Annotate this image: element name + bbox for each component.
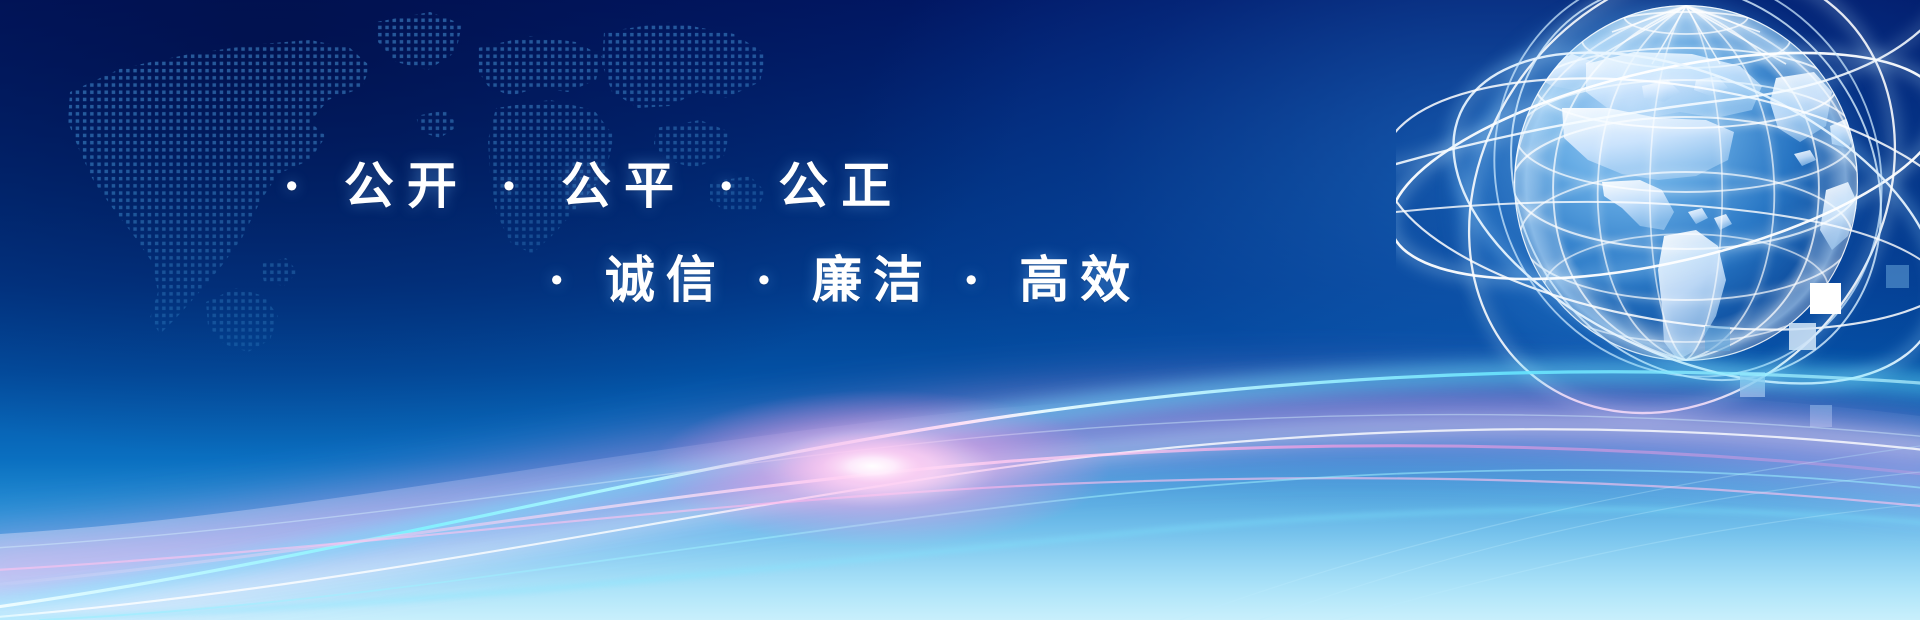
square-dim-upper	[1886, 265, 1909, 288]
banner-root: · 公开 · 公平 · 公正 · 诚信 · 廉洁 · 高效	[0, 0, 1920, 620]
light-wave	[0, 320, 1920, 620]
square-white	[1810, 283, 1841, 314]
dotted-world-map	[10, 0, 770, 366]
